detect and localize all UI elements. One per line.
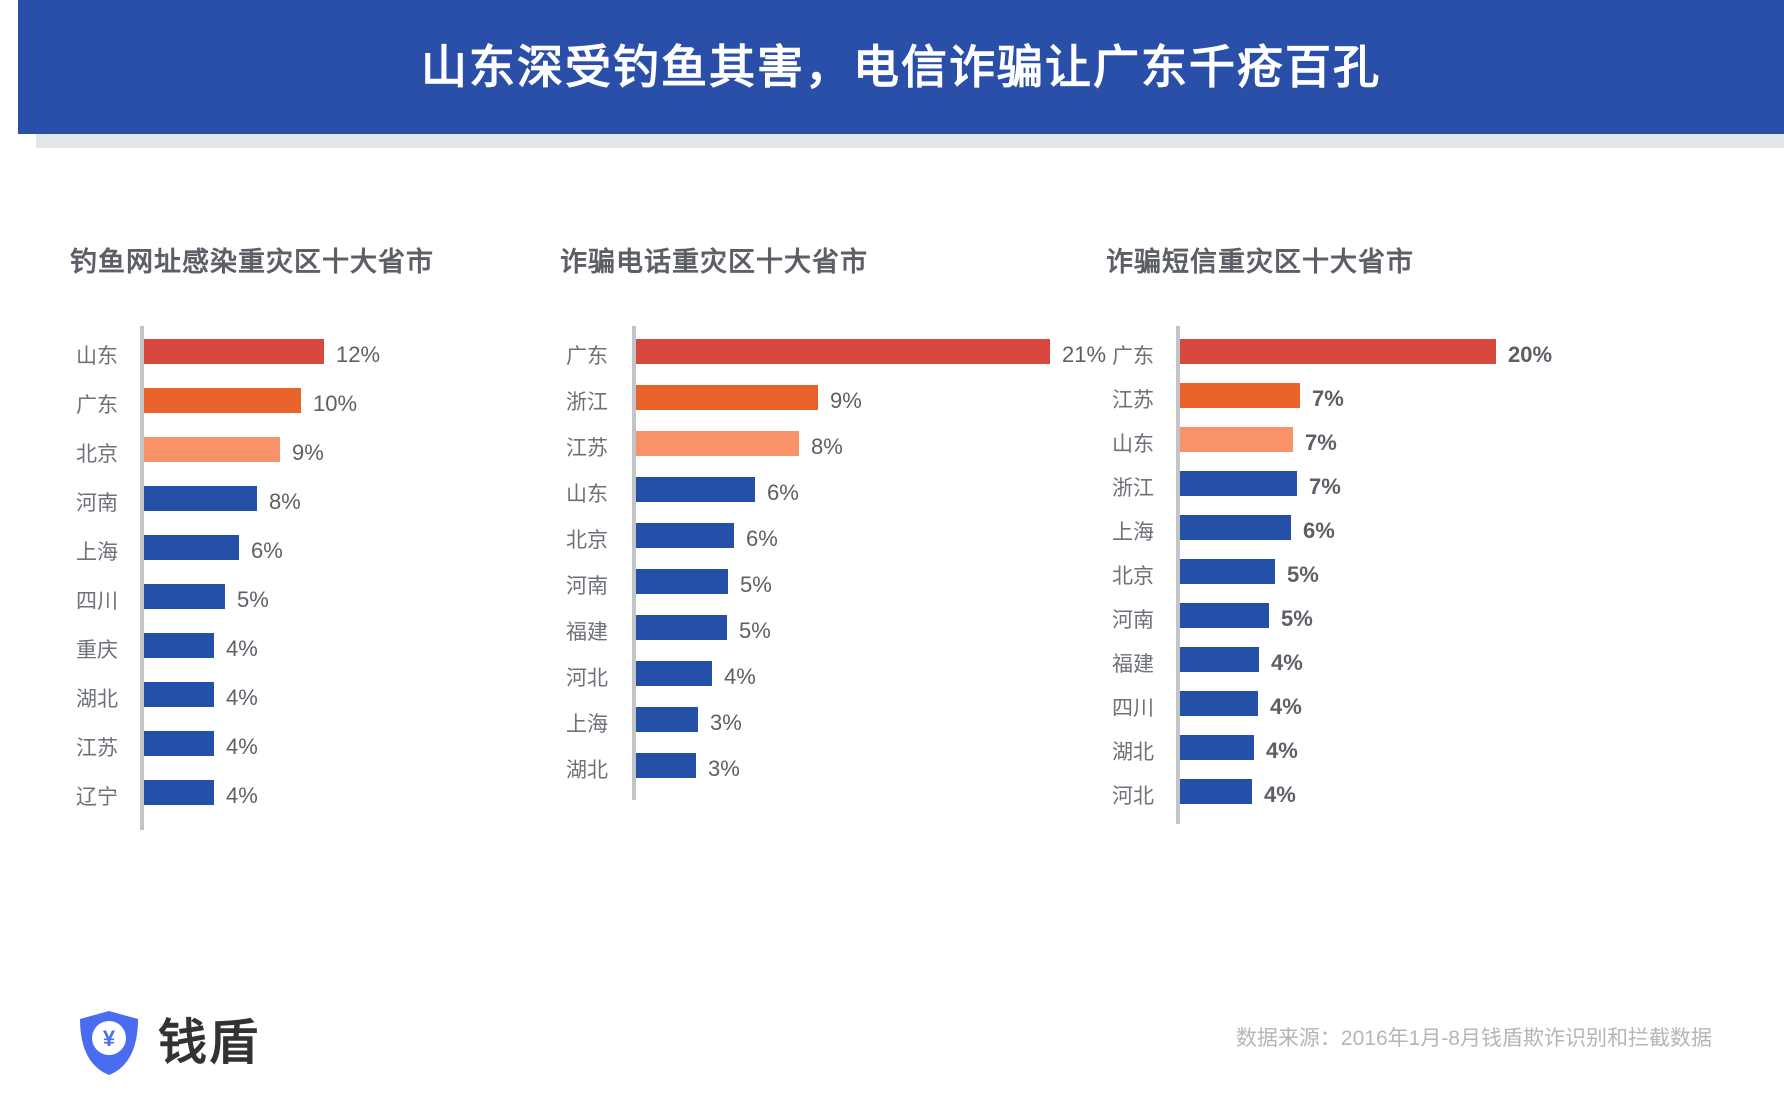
bar-value-label: 6% xyxy=(767,482,799,504)
bar xyxy=(144,535,239,560)
bar-category-label: 湖北 xyxy=(518,760,608,781)
bar xyxy=(1180,647,1259,672)
bar-category-label: 四川 xyxy=(28,591,118,612)
bar xyxy=(144,584,225,609)
bar xyxy=(1180,559,1275,584)
bar xyxy=(636,753,696,778)
bar xyxy=(144,731,214,756)
bar-category-label: 河北 xyxy=(1064,786,1154,807)
bar-value-label: 3% xyxy=(710,712,742,734)
yen-symbol: ¥ xyxy=(103,1026,116,1051)
bar xyxy=(636,661,712,686)
bar-category-label: 北京 xyxy=(518,530,608,551)
bar xyxy=(144,437,280,462)
bar-category-label: 河南 xyxy=(518,576,608,597)
bar xyxy=(636,707,698,732)
bar xyxy=(144,780,214,805)
bar-category-label: 北京 xyxy=(28,444,118,465)
bar-value-label: 4% xyxy=(1271,652,1303,674)
bar-value-label: 6% xyxy=(251,540,283,562)
bar-category-label: 湖北 xyxy=(28,689,118,710)
bar xyxy=(1180,735,1254,760)
bar-value-label: 4% xyxy=(226,687,258,709)
bar-category-label: 河北 xyxy=(518,668,608,689)
bar-category-label: 广东 xyxy=(1064,346,1154,367)
bar-category-label: 江苏 xyxy=(1064,390,1154,411)
bar-category-label: 江苏 xyxy=(28,738,118,759)
bar-value-label: 3% xyxy=(708,758,740,780)
bar-value-label: 4% xyxy=(1266,740,1298,762)
brand-name: 钱盾 xyxy=(158,1019,260,1068)
bar-category-label: 浙江 xyxy=(1064,478,1154,499)
bar xyxy=(1180,603,1269,628)
brand-logo: ¥ 钱盾 xyxy=(78,1010,260,1076)
banner-background: 山东深受钓鱼其害，电信诈骗让广东千疮百孔 xyxy=(18,0,1784,134)
bar-value-label: 6% xyxy=(1303,520,1335,542)
bar-value-label: 5% xyxy=(1281,608,1313,630)
bar-category-label: 河南 xyxy=(1064,610,1154,631)
bar-category-label: 湖北 xyxy=(1064,742,1154,763)
bar-value-label: 5% xyxy=(237,589,269,611)
bar-value-label: 9% xyxy=(292,442,324,464)
bar xyxy=(636,615,727,640)
bar-value-label: 4% xyxy=(1264,784,1296,806)
footer: ¥ 钱盾 数据来源：2016年1月-8月钱盾欺诈识别和拦截数据 xyxy=(0,960,1784,1110)
bar-category-label: 福建 xyxy=(518,622,608,643)
bar-value-label: 7% xyxy=(1305,432,1337,454)
bar xyxy=(636,569,728,594)
bar-category-label: 山东 xyxy=(518,484,608,505)
bar-category-label: 北京 xyxy=(1064,566,1154,587)
bar-category-label: 上海 xyxy=(1064,522,1154,543)
bar xyxy=(636,385,818,410)
bar-value-label: 9% xyxy=(830,390,862,412)
bar xyxy=(144,339,324,364)
bar-category-label: 江苏 xyxy=(518,438,608,459)
shield-icon: ¥ xyxy=(78,1010,140,1076)
bar-value-label: 4% xyxy=(1270,696,1302,718)
banner-shadow-strip xyxy=(36,134,1784,148)
bar-category-label: 福建 xyxy=(1064,654,1154,675)
bar-value-label: 7% xyxy=(1309,476,1341,498)
bar xyxy=(1180,779,1252,804)
bar-value-label: 7% xyxy=(1312,388,1344,410)
bar xyxy=(144,486,257,511)
bar-value-label: 10% xyxy=(313,393,357,415)
bar-value-label: 5% xyxy=(740,574,772,596)
bar-value-label: 5% xyxy=(1287,564,1319,586)
bar-category-label: 河南 xyxy=(28,493,118,514)
bar-category-label: 辽宁 xyxy=(28,787,118,808)
charts-container: 钓鱼网址感染重灾区十大省市 山东12%广东10%北京9%河南8%上海6%四川5%… xyxy=(0,148,1784,960)
title-banner: 山东深受钓鱼其害，电信诈骗让广东千疮百孔 xyxy=(0,0,1784,148)
bar-category-label: 上海 xyxy=(518,714,608,735)
bar-value-label: 6% xyxy=(746,528,778,550)
bar-value-label: 4% xyxy=(226,785,258,807)
bar xyxy=(1180,339,1496,364)
bar xyxy=(144,633,214,658)
bar-value-label: 4% xyxy=(724,666,756,688)
bar xyxy=(1180,691,1258,716)
page-title: 山东深受钓鱼其害，电信诈骗让广东千疮百孔 xyxy=(421,44,1381,90)
bar-category-label: 四川 xyxy=(1064,698,1154,719)
bar-category-label: 上海 xyxy=(28,542,118,563)
bar xyxy=(144,682,214,707)
bar xyxy=(1180,515,1291,540)
bar-value-label: 4% xyxy=(226,638,258,660)
bar-value-label: 4% xyxy=(226,736,258,758)
bar xyxy=(636,431,799,456)
bar xyxy=(636,477,755,502)
bar-category-label: 山东 xyxy=(1064,434,1154,455)
bar-category-label: 重庆 xyxy=(28,640,118,661)
bar-value-label: 8% xyxy=(269,491,301,513)
bar-category-label: 广东 xyxy=(28,395,118,416)
bar-category-label: 浙江 xyxy=(518,392,608,413)
bar xyxy=(1180,471,1297,496)
bar-value-label: 8% xyxy=(811,436,843,458)
bar xyxy=(1180,383,1300,408)
chart-title: 诈骗短信重灾区十大省市 xyxy=(1106,240,1414,279)
bar xyxy=(636,523,734,548)
data-source-note: 数据来源：2016年1月-8月钱盾欺诈识别和拦截数据 xyxy=(1236,1028,1712,1049)
bar xyxy=(636,339,1050,364)
bar-category-label: 广东 xyxy=(518,346,608,367)
chart-title: 钓鱼网址感染重灾区十大省市 xyxy=(70,240,434,279)
bar-value-label: 12% xyxy=(336,344,380,366)
bar xyxy=(1180,427,1293,452)
bar xyxy=(144,388,301,413)
chart-title: 诈骗电话重灾区十大省市 xyxy=(560,240,868,279)
bar-category-label: 山东 xyxy=(28,346,118,367)
bar-value-label: 20% xyxy=(1508,344,1552,366)
bar-value-label: 5% xyxy=(739,620,771,642)
